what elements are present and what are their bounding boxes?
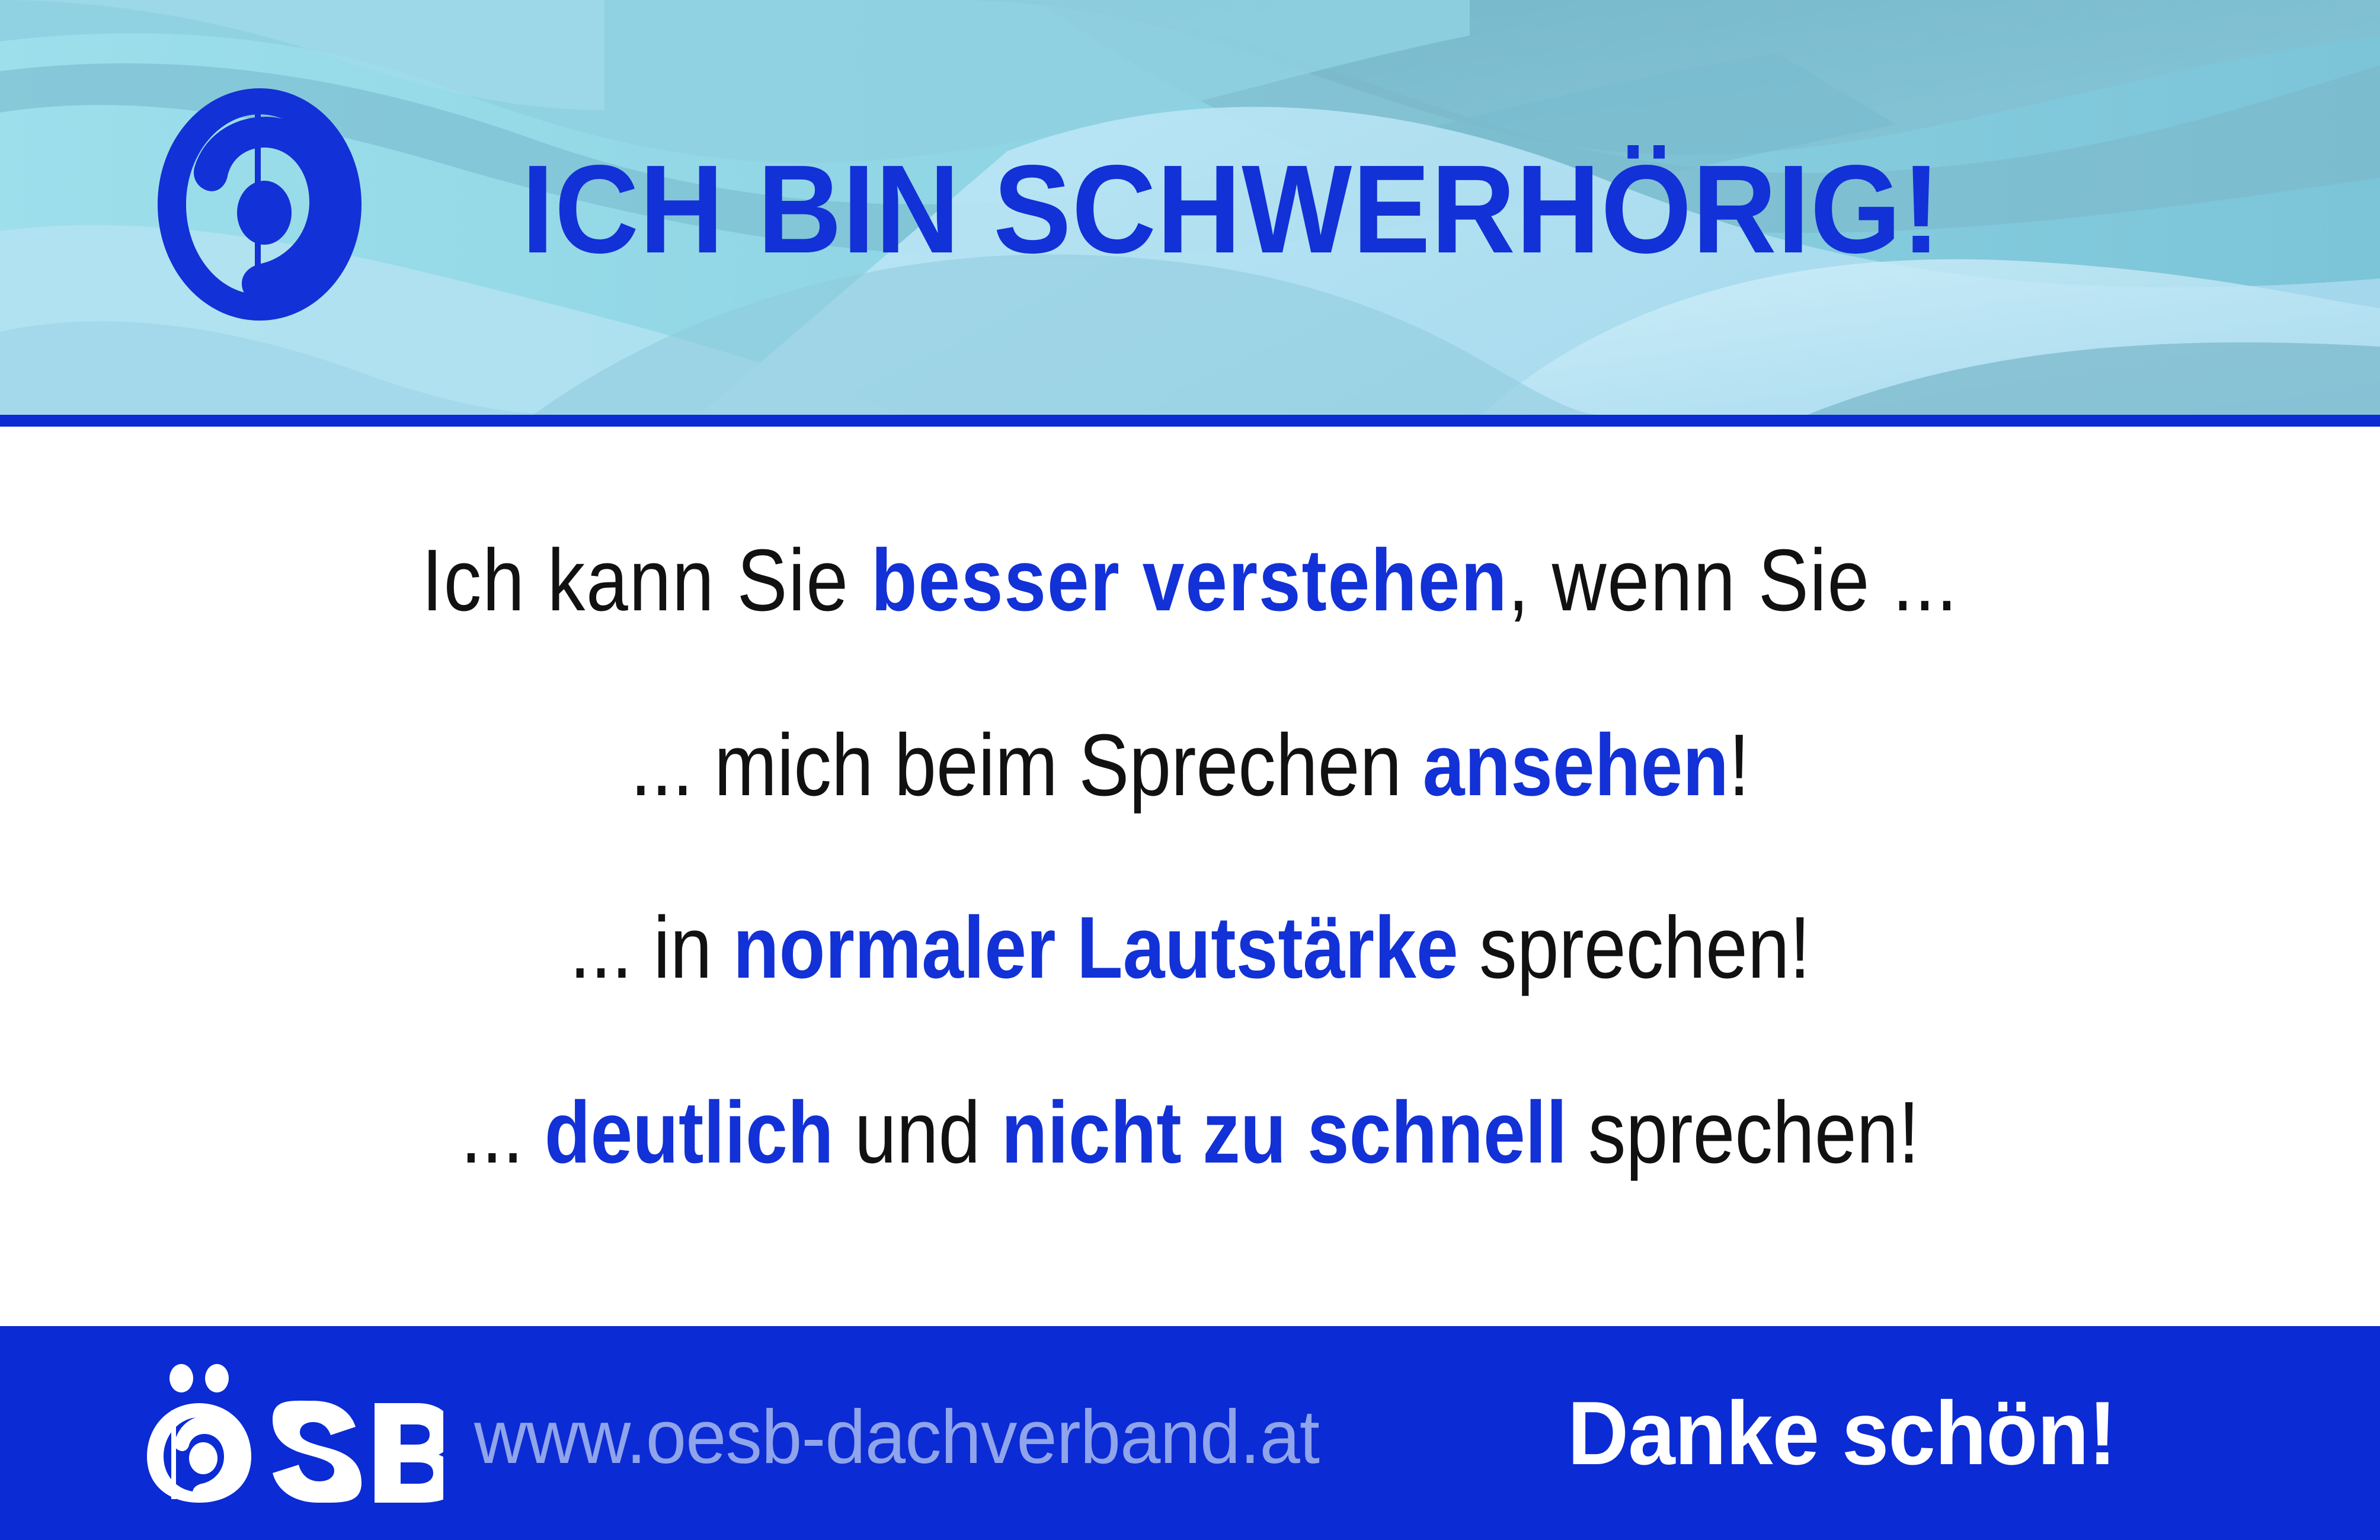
line3-seg3: sprechen! <box>1458 899 1810 997</box>
header-banner: ICH BIN SCHWERHÖRIG! <box>0 0 2380 415</box>
line2-seg3: ! <box>1729 716 1749 814</box>
message-line-1: Ich kann Sie besser verstehen, wenn Sie … <box>167 533 2213 628</box>
line4-emph2: nicht zu schnell <box>1002 1084 1568 1182</box>
line2-emph1: ansehen <box>1423 716 1729 814</box>
page-title: ICH BIN SCHWERHÖRIG! <box>522 141 2148 277</box>
line4-seg3: und <box>834 1084 1002 1182</box>
line1-emph1: besser verstehen <box>871 532 1508 629</box>
ear-spiral-logo-icon <box>141 86 378 323</box>
message-line-4: ... deutlich und nicht zu schnell sprech… <box>167 1086 2213 1180</box>
line3-emph1: normaler Lautstärke <box>733 899 1458 997</box>
line2-seg1: ... mich beim Sprechen <box>631 716 1423 814</box>
message-body: Ich kann Sie besser verstehen, wenn Sie … <box>0 427 2380 1326</box>
line4-seg5: sprechen! <box>1567 1084 1919 1182</box>
poster-card: ICH BIN SCHWERHÖRIG! Ich kann Sie besser… <box>0 0 2380 1540</box>
line1-seg3: , wenn Sie ... <box>1508 532 1958 629</box>
line1-seg1: Ich kann Sie <box>422 532 871 629</box>
line4-seg1: ... <box>460 1084 544 1182</box>
message-line-3: ... in normaler Lautstärke sprechen! <box>167 901 2213 995</box>
line4-emph1: deutlich <box>545 1084 834 1182</box>
footer-bar: www.oesb-dachverband.at Danke schön! <box>0 1326 2380 1540</box>
message-line-2: ... mich beim Sprechen ansehen! <box>167 718 2213 813</box>
line3-seg1: ... in <box>570 899 733 997</box>
website-url[interactable]: www.oesb-dachverband.at <box>474 1396 1319 1479</box>
oesb-wordmark-icon <box>135 1360 443 1503</box>
header-divider-rule <box>0 415 2380 427</box>
thanks-text: Danke schön! <box>1568 1382 2116 1484</box>
